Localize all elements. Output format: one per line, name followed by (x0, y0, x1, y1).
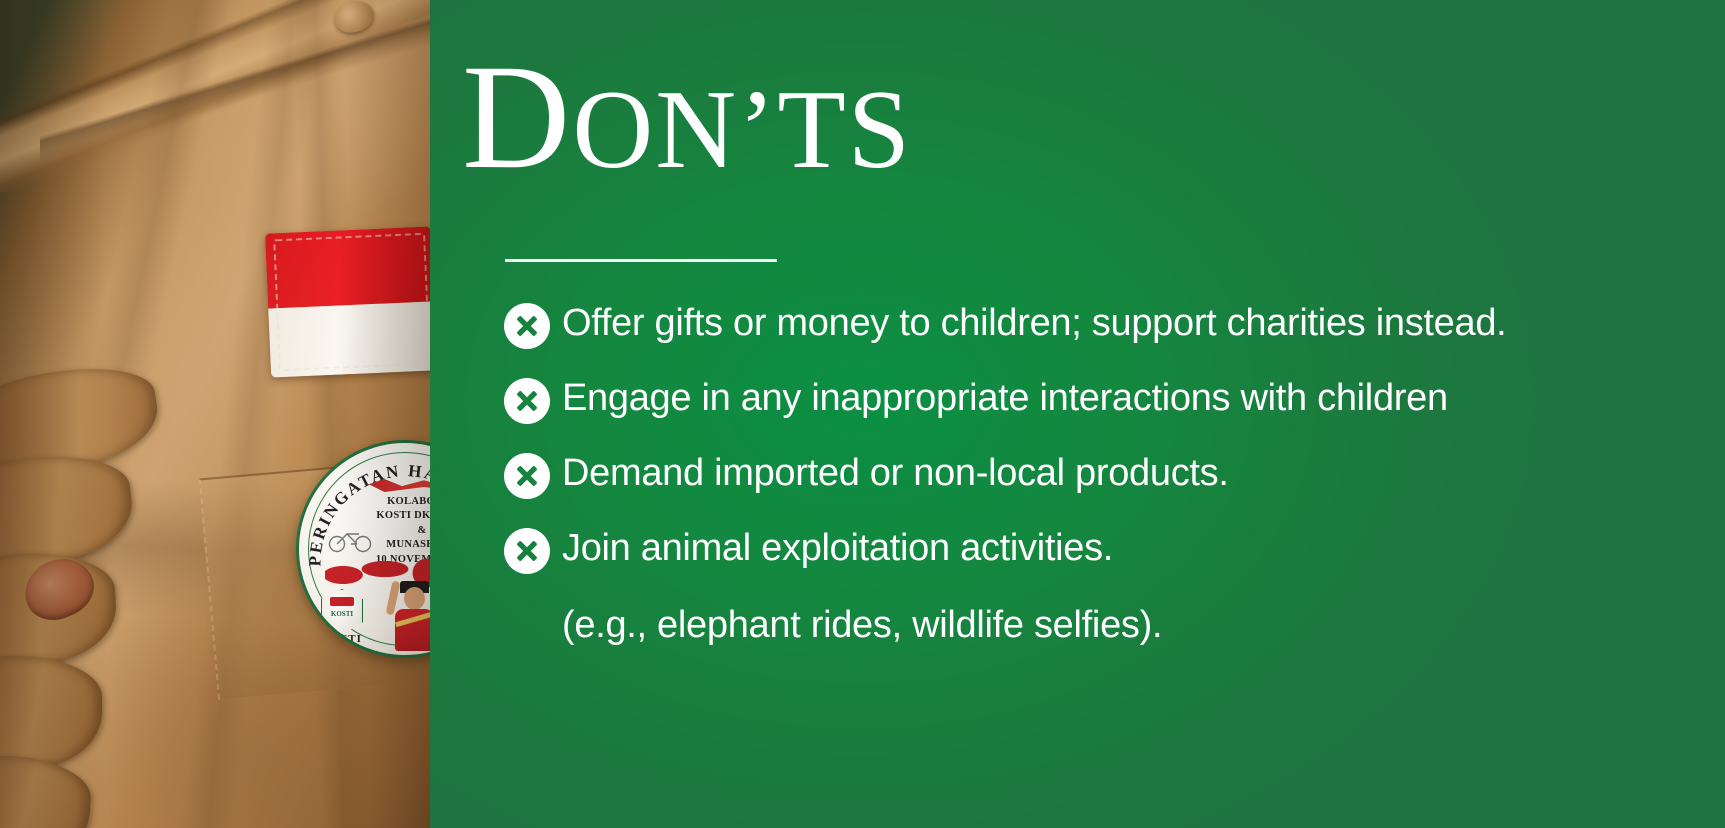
photo-finger (0, 752, 93, 828)
page-title-rest: ON’TS (572, 68, 912, 192)
circle-x-icon (504, 453, 550, 499)
list-item: Engage in any inappropriate interactions… (504, 375, 1694, 424)
page-title-initial: D (462, 34, 572, 200)
poster-canvas: PERINGATAN HA KOLABORAS KOSTI DKI JAKA &… (0, 0, 1725, 828)
list-note-label: (e.g., elephant rides, wildlife selfies)… (562, 602, 1162, 648)
title-underline (505, 259, 777, 262)
donts-list: Offer gifts or money to children; suppor… (504, 300, 1694, 648)
photo-panel: PERINGATAN HA KOLABORAS KOSTI DKI JAKA &… (0, 0, 430, 828)
badge-line-2: KOSTI DKI JAKA (347, 509, 430, 523)
figure-head (404, 587, 425, 610)
list-item-label: Engage in any inappropriate interactions… (562, 375, 1448, 421)
list-item: Demand imported or non-local products. (504, 450, 1694, 499)
bicycle-icon (327, 527, 375, 553)
list-item: Offer gifts or money to children; suppor… (504, 300, 1694, 349)
circle-x-icon (504, 303, 550, 349)
badge-line-1: KOLABORAS (347, 495, 430, 509)
circle-x-icon (504, 528, 550, 574)
indonesian-flag-patch (265, 226, 430, 377)
circle-x-icon (504, 378, 550, 424)
list-item-label: Demand imported or non-local products. (562, 450, 1229, 496)
page-title: DON’TS (462, 42, 912, 192)
badge-bottom-label: KOSTI (313, 633, 371, 645)
photo-finger (0, 656, 102, 768)
list-item-label: Join animal exploitation activities. (562, 525, 1113, 571)
photo-hand (0, 372, 180, 828)
flag-stitching (273, 233, 430, 372)
content-panel: DON’TS Offer gifts or money to children;… (430, 0, 1725, 828)
list-note: (e.g., elephant rides, wildlife selfies)… (504, 602, 1694, 648)
emblem-banner (330, 597, 354, 606)
commemorative-badge: PERINGATAN HA KOLABORAS KOSTI DKI JAKA &… (296, 440, 430, 658)
list-item-label: Offer gifts or money to children; suppor… (562, 300, 1506, 346)
badge-person-figure (387, 575, 430, 651)
list-item: Join animal exploitation activities. (504, 525, 1694, 574)
emblem-label: KOSTI (322, 610, 362, 618)
